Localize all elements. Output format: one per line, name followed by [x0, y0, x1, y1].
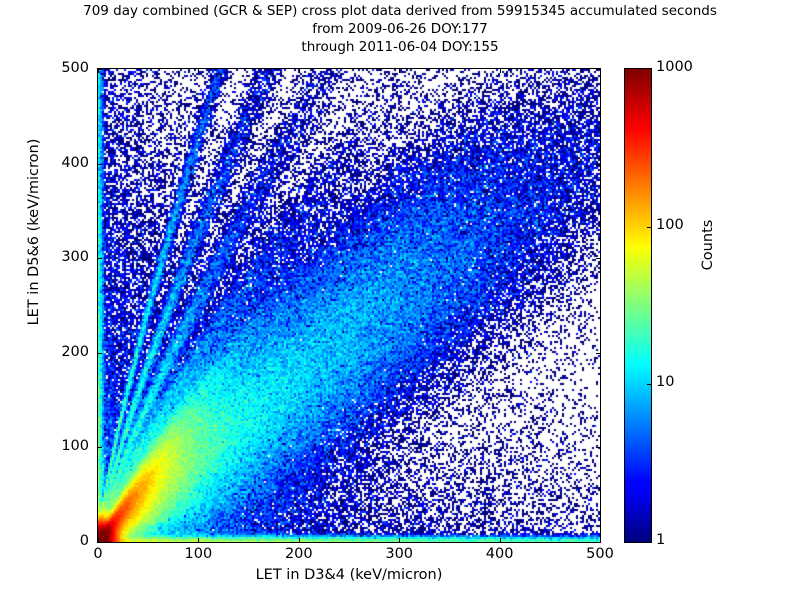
x-tick-mark [399, 538, 400, 543]
x-tick-mark [500, 538, 501, 543]
plot-area [97, 68, 601, 543]
y-tick-mark-right [596, 542, 601, 543]
colorbar-tick-label: 100 [656, 217, 684, 233]
x-tick-label: 400 [470, 546, 530, 562]
y-tick-mark-right [596, 447, 601, 448]
x-tick-label: 300 [369, 546, 429, 562]
colorbar-tick-label: 1 [656, 532, 665, 548]
colorbar-gradient [625, 69, 651, 542]
figure-title-line-2: from 2009-06-26 DOY:177 [0, 22, 800, 37]
colorbar-tick-label: 10 [656, 374, 674, 390]
x-tick-mark [198, 538, 199, 543]
colorbar-tick-mark [647, 384, 652, 385]
y-axis-title: LET in D5&6 (keV/micron) [26, 32, 42, 432]
y-tick-mark [97, 164, 102, 165]
y-tick-mark [97, 447, 102, 448]
colorbar-tick-mark [647, 227, 652, 228]
y-tick-label: 0 [29, 533, 89, 549]
x-tick-mark-top [299, 68, 300, 73]
colorbar-title: Counts [700, 145, 716, 345]
y-tick-mark-right [596, 258, 601, 259]
x-tick-mark [299, 538, 300, 543]
y-tick-mark-right [596, 164, 601, 165]
y-tick-mark [97, 69, 102, 70]
y-tick-mark [97, 258, 102, 259]
colorbar [624, 68, 652, 543]
x-tick-label: 100 [168, 546, 228, 562]
density-heatmap [98, 69, 600, 542]
x-tick-mark-top [500, 68, 501, 73]
x-tick-mark-top [198, 68, 199, 73]
x-tick-mark-top [399, 68, 400, 73]
y-tick-mark [97, 353, 102, 354]
figure-title-line-1: 709 day combined (GCR & SEP) cross plot … [0, 4, 800, 19]
x-tick-label: 500 [570, 546, 630, 562]
y-tick-mark-right [596, 69, 601, 70]
y-tick-mark-right [596, 353, 601, 354]
x-tick-label: 200 [269, 546, 329, 562]
x-axis-title: LET in D3&4 (keV/micron) [97, 567, 601, 583]
y-tick-mark [97, 542, 102, 543]
colorbar-tick-label: 1000 [656, 59, 693, 75]
y-tick-label: 100 [29, 438, 89, 454]
figure: 709 day combined (GCR & SEP) cross plot … [0, 0, 800, 600]
figure-title-line-3: through 2011-06-04 DOY:155 [0, 40, 800, 55]
